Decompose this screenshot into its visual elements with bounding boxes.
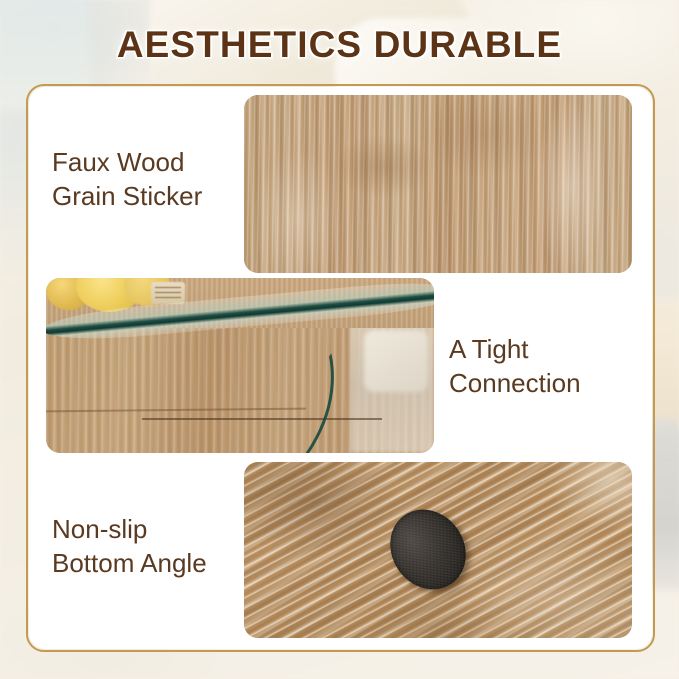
background-object-right bbox=[364, 330, 428, 392]
page-title: AESTHETICS DURABLE bbox=[0, 24, 679, 66]
infographic-canvas: AESTHETICS DURABLE Faux Wood Grain Stick… bbox=[0, 0, 679, 679]
felt-pad-icon bbox=[375, 495, 481, 604]
feature-label-2: A Tight Connection bbox=[449, 332, 581, 400]
feature-label-3: Non-slip Bottom Angle bbox=[52, 512, 207, 580]
feature-image-2 bbox=[46, 278, 434, 453]
feature-image-1 bbox=[244, 95, 632, 273]
feature-label-1: Faux Wood Grain Sticker bbox=[52, 145, 202, 213]
label-tag bbox=[151, 282, 185, 304]
feature-image-3 bbox=[244, 462, 632, 638]
distressed-wood-texture bbox=[244, 462, 632, 638]
wood-grain-texture bbox=[244, 95, 632, 273]
